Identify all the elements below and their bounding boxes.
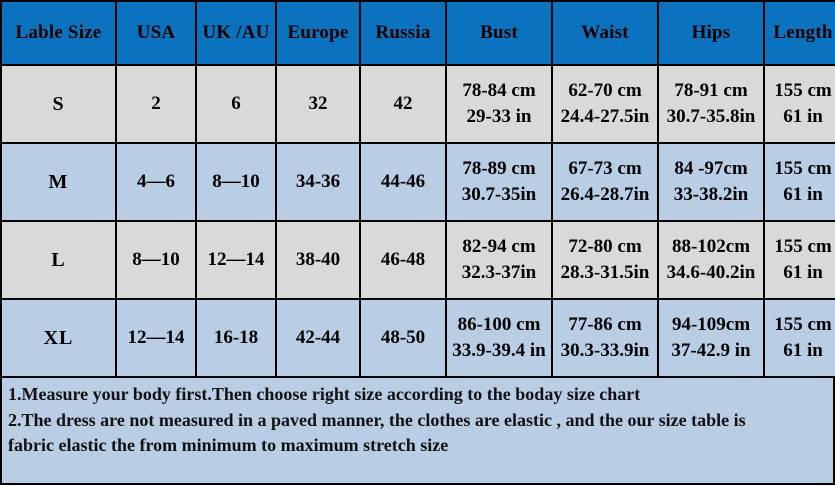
column-header-length: Length bbox=[765, 2, 835, 64]
cell-length: 155 cm 61 in bbox=[765, 300, 835, 376]
bust-in: 32.3-37in bbox=[447, 260, 551, 286]
length-cm: 155 cm bbox=[765, 312, 835, 338]
column-header-europe: Europe bbox=[277, 2, 359, 64]
waist-cm: 72-80 cm bbox=[553, 234, 657, 260]
length-cm: 155 cm bbox=[765, 234, 835, 260]
column-header-russia: Russia bbox=[361, 2, 445, 64]
note-elastic-table: 2.The dress are not measured in a paved … bbox=[6, 408, 829, 434]
table-row: M 4—6 8—10 34-36 44-46 78-89 cm 30.7-35i… bbox=[2, 144, 835, 220]
cell-waist: 62-70 cm 24.4-27.5in bbox=[553, 66, 657, 142]
cell-usa: 12—14 bbox=[117, 300, 195, 376]
length-in: 61 in bbox=[765, 104, 835, 130]
cell-bust: 82-94 cm 32.3-37in bbox=[447, 222, 551, 298]
cell-hips: 88-102cm 34.6-40.2in bbox=[659, 222, 763, 298]
cell-uk-au: 6 bbox=[197, 66, 275, 142]
cell-size: L bbox=[2, 222, 115, 298]
table-header: Lable Size USA UK /AU Europe Russia Bust… bbox=[2, 2, 835, 64]
column-header-waist: Waist bbox=[553, 2, 657, 64]
bust-in: 33.9-39.4 in bbox=[447, 338, 551, 364]
column-header-uk-au: UK /AU bbox=[197, 2, 275, 64]
hips-in: 33-38.2in bbox=[659, 182, 763, 208]
cell-usa: 8—10 bbox=[117, 222, 195, 298]
cell-bust: 86-100 cm 33.9-39.4 in bbox=[447, 300, 551, 376]
table-row: XL 12—14 16-18 42-44 48-50 86-100 cm 33.… bbox=[2, 300, 835, 376]
table-row: L 8—10 12—14 38-40 46-48 82-94 cm 32.3-3… bbox=[2, 222, 835, 298]
notes-section: 1.Measure your body first.Then choose ri… bbox=[2, 378, 833, 483]
column-header-hips: Hips bbox=[659, 2, 763, 64]
cell-length: 155 cm 61 in bbox=[765, 66, 835, 142]
note-stretch-range: fabric elastic the from minimum to maxim… bbox=[6, 433, 829, 459]
waist-in: 30.3-33.9in bbox=[553, 338, 657, 364]
waist-cm: 62-70 cm bbox=[553, 78, 657, 104]
table-row: S 2 6 32 42 78-84 cm 29-33 in 62-70 cm 2… bbox=[2, 66, 835, 142]
cell-bust: 78-89 cm 30.7-35in bbox=[447, 144, 551, 220]
size-chart: Lable Size USA UK /AU Europe Russia Bust… bbox=[0, 0, 835, 485]
cell-uk-au: 16-18 bbox=[197, 300, 275, 376]
hips-in: 37-42.9 in bbox=[659, 338, 763, 364]
cell-waist: 72-80 cm 28.3-31.5in bbox=[553, 222, 657, 298]
table-body: S 2 6 32 42 78-84 cm 29-33 in 62-70 cm 2… bbox=[2, 66, 835, 376]
cell-size: S bbox=[2, 66, 115, 142]
hips-cm: 88-102cm bbox=[659, 234, 763, 260]
cell-waist: 77-86 cm 30.3-33.9in bbox=[553, 300, 657, 376]
cell-hips: 78-91 cm 30.7-35.8in bbox=[659, 66, 763, 142]
header-row: Lable Size USA UK /AU Europe Russia Bust… bbox=[2, 2, 835, 64]
hips-cm: 78-91 cm bbox=[659, 78, 763, 104]
size-table: Lable Size USA UK /AU Europe Russia Bust… bbox=[0, 0, 835, 378]
cell-usa: 4—6 bbox=[117, 144, 195, 220]
bust-cm: 86-100 cm bbox=[447, 312, 551, 338]
length-cm: 155 cm bbox=[765, 78, 835, 104]
hips-in: 30.7-35.8in bbox=[659, 104, 763, 130]
cell-europe: 34-36 bbox=[277, 144, 359, 220]
hips-in: 34.6-40.2in bbox=[659, 260, 763, 286]
note-measure-body: 1.Measure your body first.Then choose ri… bbox=[6, 382, 829, 408]
cell-waist: 67-73 cm 26.4-28.7in bbox=[553, 144, 657, 220]
cell-length: 155 cm 61 in bbox=[765, 222, 835, 298]
waist-in: 24.4-27.5in bbox=[553, 104, 657, 130]
column-header-bust: Bust bbox=[447, 2, 551, 64]
cell-hips: 84 -97cm 33-38.2in bbox=[659, 144, 763, 220]
cell-uk-au: 8—10 bbox=[197, 144, 275, 220]
cell-russia: 44-46 bbox=[361, 144, 445, 220]
bust-cm: 78-89 cm bbox=[447, 156, 551, 182]
cell-russia: 48-50 bbox=[361, 300, 445, 376]
length-cm: 155 cm bbox=[765, 156, 835, 182]
waist-cm: 77-86 cm bbox=[553, 312, 657, 338]
waist-cm: 67-73 cm bbox=[553, 156, 657, 182]
length-in: 61 in bbox=[765, 182, 835, 208]
cell-europe: 32 bbox=[277, 66, 359, 142]
cell-europe: 38-40 bbox=[277, 222, 359, 298]
cell-uk-au: 12—14 bbox=[197, 222, 275, 298]
cell-usa: 2 bbox=[117, 66, 195, 142]
cell-bust: 78-84 cm 29-33 in bbox=[447, 66, 551, 142]
cell-russia: 42 bbox=[361, 66, 445, 142]
cell-europe: 42-44 bbox=[277, 300, 359, 376]
cell-length: 155 cm 61 in bbox=[765, 144, 835, 220]
cell-size: M bbox=[2, 144, 115, 220]
waist-in: 26.4-28.7in bbox=[553, 182, 657, 208]
cell-russia: 46-48 bbox=[361, 222, 445, 298]
length-in: 61 in bbox=[765, 260, 835, 286]
bust-cm: 82-94 cm bbox=[447, 234, 551, 260]
bust-cm: 78-84 cm bbox=[447, 78, 551, 104]
length-in: 61 in bbox=[765, 338, 835, 364]
waist-in: 28.3-31.5in bbox=[553, 260, 657, 286]
hips-cm: 94-109cm bbox=[659, 312, 763, 338]
cell-hips: 94-109cm 37-42.9 in bbox=[659, 300, 763, 376]
cell-size: XL bbox=[2, 300, 115, 376]
hips-cm: 84 -97cm bbox=[659, 156, 763, 182]
bust-in: 29-33 in bbox=[447, 104, 551, 130]
column-header-usa: USA bbox=[117, 2, 195, 64]
bust-in: 30.7-35in bbox=[447, 182, 551, 208]
column-header-lable-size: Lable Size bbox=[2, 2, 115, 64]
